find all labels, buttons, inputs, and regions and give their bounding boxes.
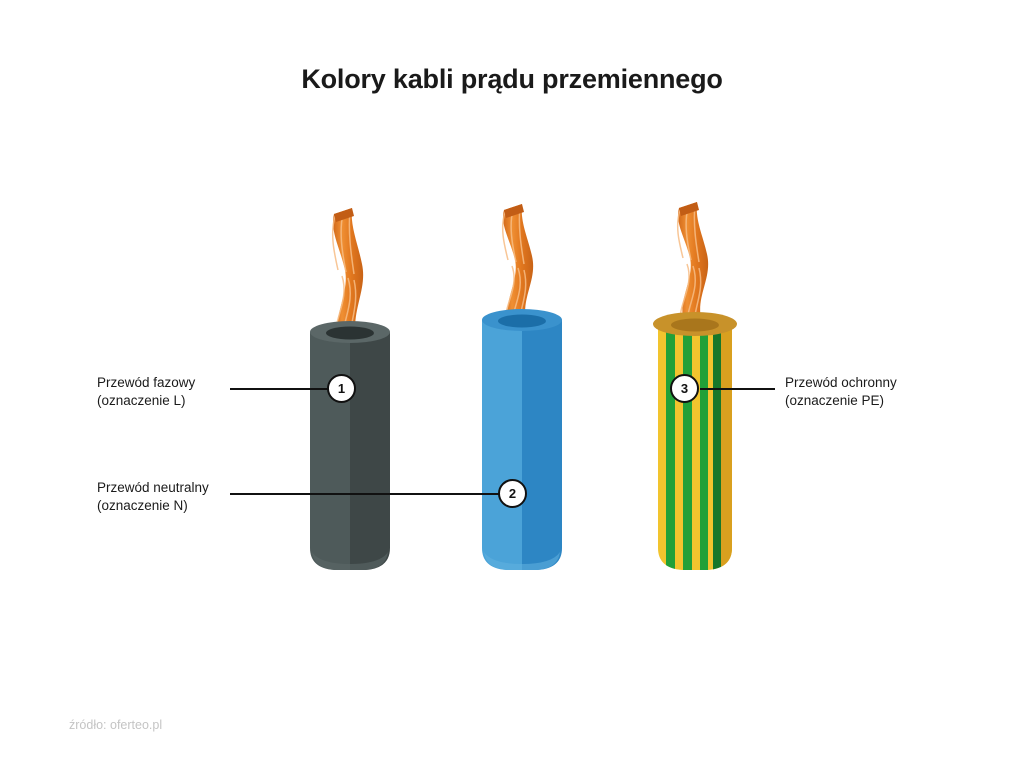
callout-badge-1[interactable]: 1 (327, 374, 356, 403)
cable-blue-graphic (472, 196, 572, 576)
copper-conductor-icon (678, 202, 708, 326)
callout-label-2-line2: (oznaczenie N) (97, 497, 209, 515)
cable-blue-insulation (482, 309, 562, 570)
callout-label-2: Przewód neutralny (oznaczenie N) (97, 479, 209, 515)
callout-label-3-line2: (oznaczenie PE) (785, 392, 897, 410)
callout-label-1: Przewód fazowy (oznaczenie L) (97, 374, 195, 410)
cable-green-yellow-insulation (653, 312, 737, 576)
callout-label-3: Przewód ochronny (oznaczenie PE) (785, 374, 897, 410)
callout-label-1-line2: (oznaczenie L) (97, 392, 195, 410)
cable-blue (472, 196, 572, 576)
page-title: Kolory kabli prądu przemiennego (0, 64, 1024, 95)
source-attribution: źródło: oferteo.pl (69, 718, 162, 732)
leader-line-1 (230, 388, 335, 390)
callout-label-2-line1: Przewód neutralny (97, 479, 209, 497)
callout-label-3-line1: Przewód ochronny (785, 374, 897, 392)
callout-badge-3[interactable]: 3 (670, 374, 699, 403)
callout-label-1-line1: Przewód fazowy (97, 374, 195, 392)
infographic-canvas: Kolory kabli prądu przemiennego (0, 0, 1024, 768)
callout-badge-2[interactable]: 2 (498, 479, 527, 508)
cable-gray-insulation (310, 321, 390, 570)
leader-line-3 (700, 388, 775, 390)
leader-line-2 (230, 493, 508, 495)
